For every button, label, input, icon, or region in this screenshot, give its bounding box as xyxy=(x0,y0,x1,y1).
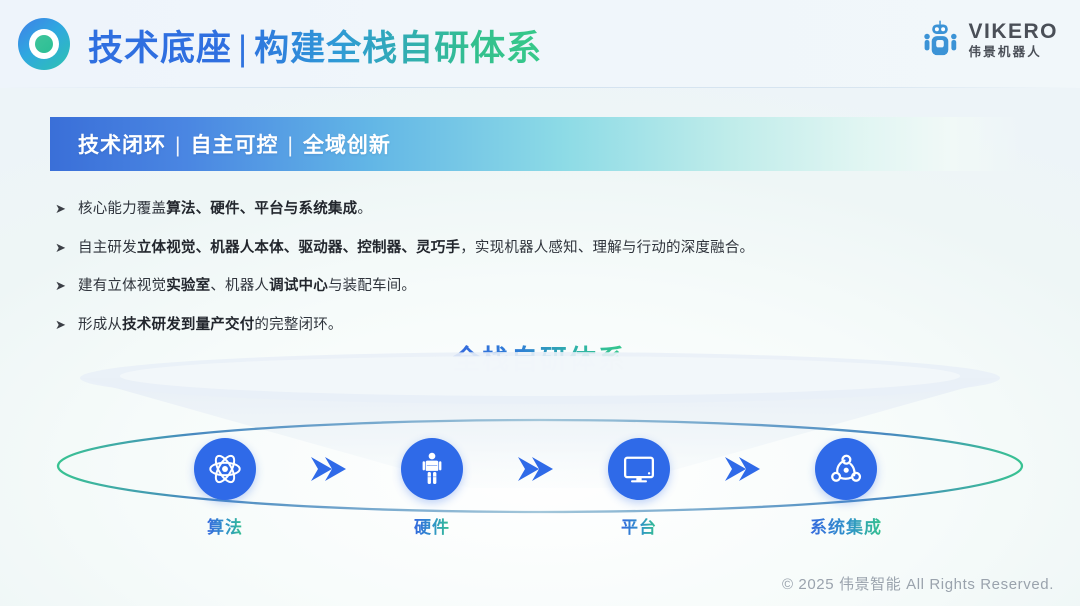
bullet-list: ➤核心能力覆盖算法、硬件、平台与系统集成。➤自主研发立体视觉、机器人本体、驱动器… xyxy=(52,198,1012,352)
node-platform-label: 平台 xyxy=(549,513,729,538)
monitor-icon xyxy=(620,450,658,488)
banner-part-1: 技术闭环 xyxy=(78,134,166,157)
bullet-facilities-text: 建有立体视觉实验室、机器人调试中心与装配车间。 xyxy=(78,275,416,297)
page-title-sub: 构建全栈自研体系 xyxy=(254,29,542,68)
brand-name-en: VIKERO xyxy=(968,21,1058,42)
subtitle-banner-text: 技术闭环|自主可控|全域创新 xyxy=(78,129,391,159)
bullet-core-capability: ➤核心能力覆盖算法、硬件、平台与系统集成。 xyxy=(52,198,1012,220)
bullet-arrow-icon: ➤ xyxy=(52,198,78,220)
page-title-main: 技术底座 xyxy=(88,29,232,68)
bullet-core-capability-text: 核心能力覆盖算法、硬件、平台与系统集成。 xyxy=(78,198,372,220)
page-title-separator: | xyxy=(232,29,254,68)
node-integration-label: 系统集成 xyxy=(756,513,936,538)
robot-icon xyxy=(921,20,959,60)
brand-name-cn: 伟景机器人 xyxy=(968,46,1042,59)
atom-icon xyxy=(206,450,244,488)
node-hardware-label: 硬件 xyxy=(342,513,522,538)
fullstack-diagram: 全栈自研体系 xyxy=(0,338,1080,568)
subtitle-banner: 技术闭环|自主可控|全域创新 xyxy=(50,117,1020,171)
footer-copyright: © 2025 伟景智能 All Rights Reserved. xyxy=(782,573,1054,594)
node-integration[interactable] xyxy=(815,438,877,500)
bullet-arrow-icon: ➤ xyxy=(52,237,78,259)
brand-logo: VIKERO 伟景机器人 xyxy=(921,20,1058,60)
node-platform[interactable] xyxy=(608,438,670,500)
banner-separator-2: | xyxy=(278,134,302,157)
bullet-closed-loop-text: 形成从技术研发到量产交付的完整闭环。 xyxy=(78,314,343,336)
slide-root: 技术底座|构建全栈自研体系 VIKERO 伟景机 xyxy=(0,0,1080,606)
banner-separator-1: | xyxy=(166,134,190,157)
logo-inner-ring xyxy=(29,29,59,59)
node-hardware[interactable] xyxy=(401,438,463,500)
page-title: 技术底座|构建全栈自研体系 xyxy=(88,20,542,71)
target-circle-icon xyxy=(18,18,70,70)
banner-part-3: 全域创新 xyxy=(303,134,391,157)
network-nodes-icon xyxy=(827,450,865,488)
humanoid-robot-icon xyxy=(413,450,451,488)
node-algorithm-label: 算法 xyxy=(135,513,315,538)
bullet-arrow-icon: ➤ xyxy=(52,275,78,297)
bullet-arrow-icon: ➤ xyxy=(52,314,78,336)
bullet-facilities: ➤建有立体视觉实验室、机器人调试中心与装配车间。 xyxy=(52,275,1012,297)
slide-header: 技术底座|构建全栈自研体系 VIKERO 伟景机 xyxy=(0,0,1080,88)
brand-text: VIKERO 伟景机器人 xyxy=(968,21,1058,59)
logo-center-dot xyxy=(35,35,53,53)
bullet-self-developed: ➤自主研发立体视觉、机器人本体、驱动器、控制器、灵巧手，实现机器人感知、理解与行… xyxy=(52,237,1012,259)
node-algorithm[interactable] xyxy=(194,438,256,500)
bullet-self-developed-text: 自主研发立体视觉、机器人本体、驱动器、控制器、灵巧手，实现机器人感知、理解与行动… xyxy=(78,237,754,259)
banner-part-2: 自主可控 xyxy=(190,134,278,157)
bullet-closed-loop: ➤形成从技术研发到量产交付的完整闭环。 xyxy=(52,314,1012,336)
